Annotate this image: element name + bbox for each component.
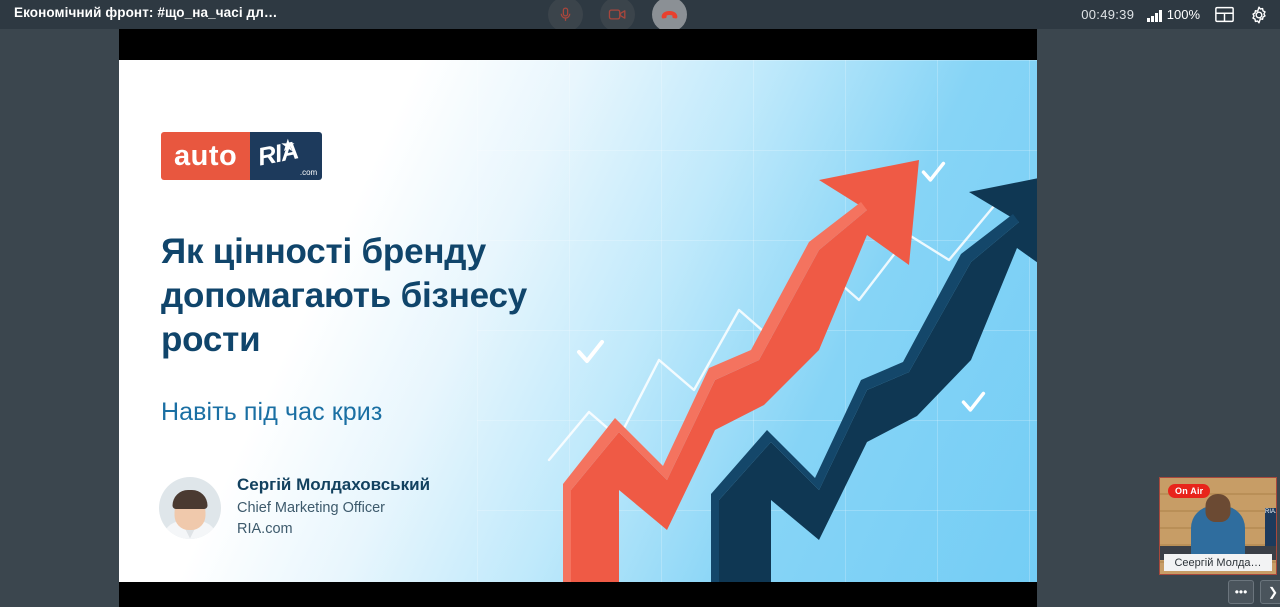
speaker-avatar	[159, 477, 221, 539]
logo-dotcom-text: .com	[300, 168, 317, 177]
microphone-icon	[557, 6, 574, 23]
more-options-button[interactable]: •••	[1228, 580, 1254, 604]
autoria-logo: auto ★ RIA .com	[161, 132, 322, 180]
microphone-button[interactable]	[548, 0, 583, 32]
layout-grid-button[interactable]	[1213, 4, 1235, 26]
logo-ria-text: RIA	[256, 136, 301, 172]
logo-auto-text: auto	[161, 132, 250, 180]
expand-panel-button[interactable]: ❯	[1260, 580, 1280, 604]
check-mark-icon	[919, 160, 947, 186]
call-timer: 00:49:39	[1081, 7, 1134, 22]
signal-bars-icon	[1147, 10, 1162, 22]
call-controls	[548, 0, 687, 32]
gear-icon	[1249, 5, 1269, 25]
video-side-banner: RIA.com	[1265, 508, 1276, 546]
speaker-company: RIA.com	[237, 519, 430, 540]
video-person-head	[1206, 494, 1231, 522]
on-air-badge: On Air	[1168, 484, 1210, 498]
speaker-name: Сергій Молдаховський	[237, 475, 430, 495]
settings-button[interactable]	[1248, 4, 1270, 26]
end-call-button[interactable]	[652, 0, 687, 32]
tile-actions-tray: ••• ❯	[1228, 580, 1280, 604]
battery-percent: 100%	[1167, 7, 1200, 22]
signal-indicator: 100%	[1147, 7, 1200, 22]
status-area: 00:49:39 100%	[1081, 0, 1270, 29]
slide-content: auto ★ RIA .com Як цінності бренду допом…	[119, 60, 1037, 582]
layout-grid-icon	[1215, 6, 1234, 23]
video-camera-icon	[608, 6, 627, 23]
slide-headline: Як цінності бренду допомагають бізнесу р…	[161, 230, 601, 362]
logo-ria-block: ★ RIA .com	[250, 132, 322, 180]
participant-video-tile[interactable]: RIA.com On Air Сеергій Молда…	[1159, 477, 1277, 575]
speaker-role: Chief Marketing Officer	[237, 498, 430, 519]
presentation-stage[interactable]: auto ★ RIA .com Як цінності бренду допом…	[119, 29, 1037, 607]
participant-name-label: Сеергій Молда…	[1164, 554, 1272, 571]
speaker-block: Сергій Молдаховський Chief Marketing Off…	[159, 475, 430, 540]
meeting-title: Економічний фронт: #що_на_часі дл…	[14, 5, 278, 20]
check-mark-icon	[959, 390, 987, 416]
hang-up-phone-icon	[659, 4, 680, 25]
camera-button[interactable]	[600, 0, 635, 32]
slide-subheadline: Навіть під час криз	[161, 398, 382, 427]
